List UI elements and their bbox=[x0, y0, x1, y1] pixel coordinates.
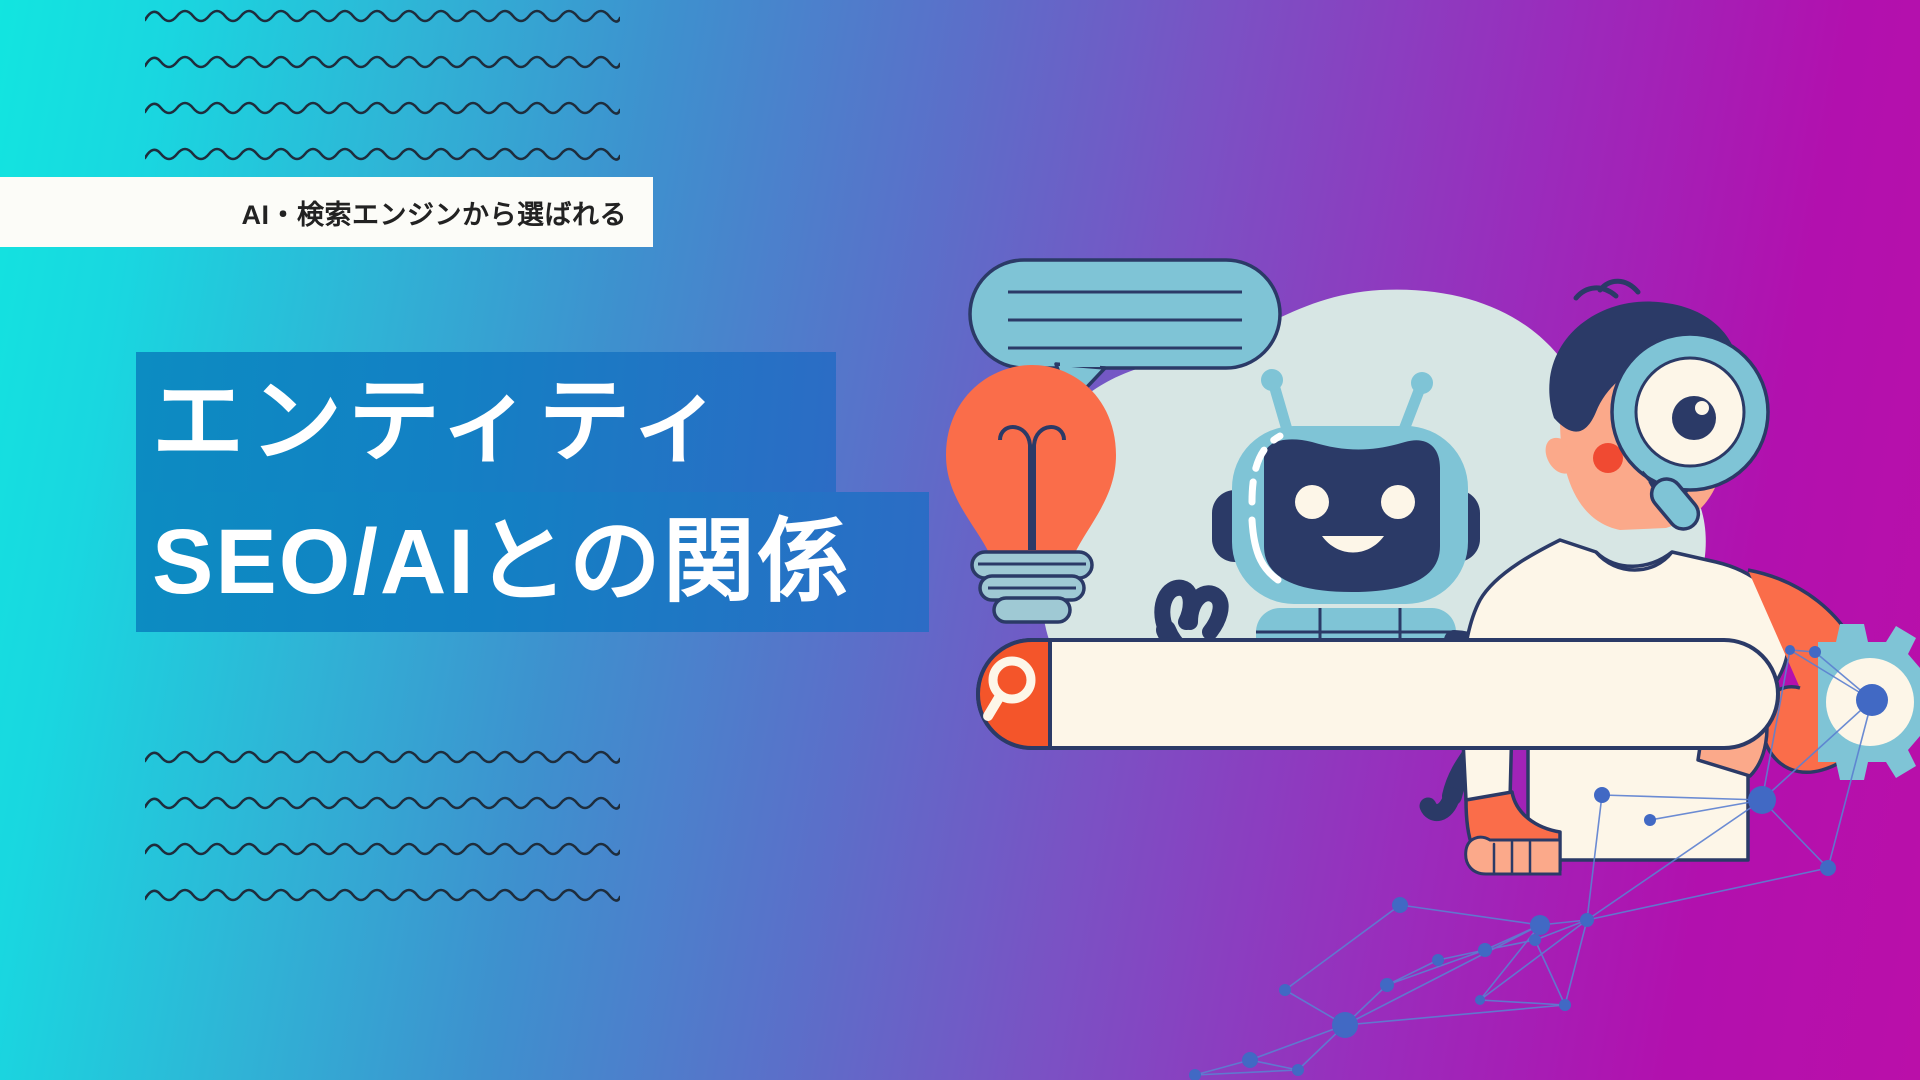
wavy-line-icon bbox=[145, 883, 620, 907]
main-title-group: エンティティ SEO/AIとの関係 bbox=[136, 352, 929, 632]
wavy-line-icon bbox=[145, 142, 620, 166]
wavy-line-icon bbox=[145, 837, 620, 861]
wavy-line-icon bbox=[145, 96, 620, 120]
wavy-line-icon bbox=[145, 4, 620, 28]
title-line-2-text: SEO/AIとの関係 bbox=[152, 516, 851, 608]
wave-decoration-bottom bbox=[145, 745, 620, 929]
title-line-1-box: エンティティ bbox=[136, 352, 836, 492]
sub-banner-text: AI・検索エンジンから選ばれる bbox=[242, 193, 628, 232]
title-line-2-box: SEO/AIとの関係 bbox=[136, 492, 929, 632]
wavy-line-icon bbox=[145, 745, 620, 769]
wave-decoration-top bbox=[145, 4, 620, 188]
hero-banner: AI・検索エンジンから選ばれる エンティティ SEO/AIとの関係 bbox=[0, 0, 1920, 1080]
network-graph-decoration bbox=[1150, 620, 1920, 1080]
title-line-1-text: エンティティ bbox=[152, 376, 729, 468]
wavy-line-icon bbox=[145, 50, 620, 74]
wavy-line-icon bbox=[145, 791, 620, 815]
sub-banner: AI・検索エンジンから選ばれる bbox=[0, 177, 653, 247]
